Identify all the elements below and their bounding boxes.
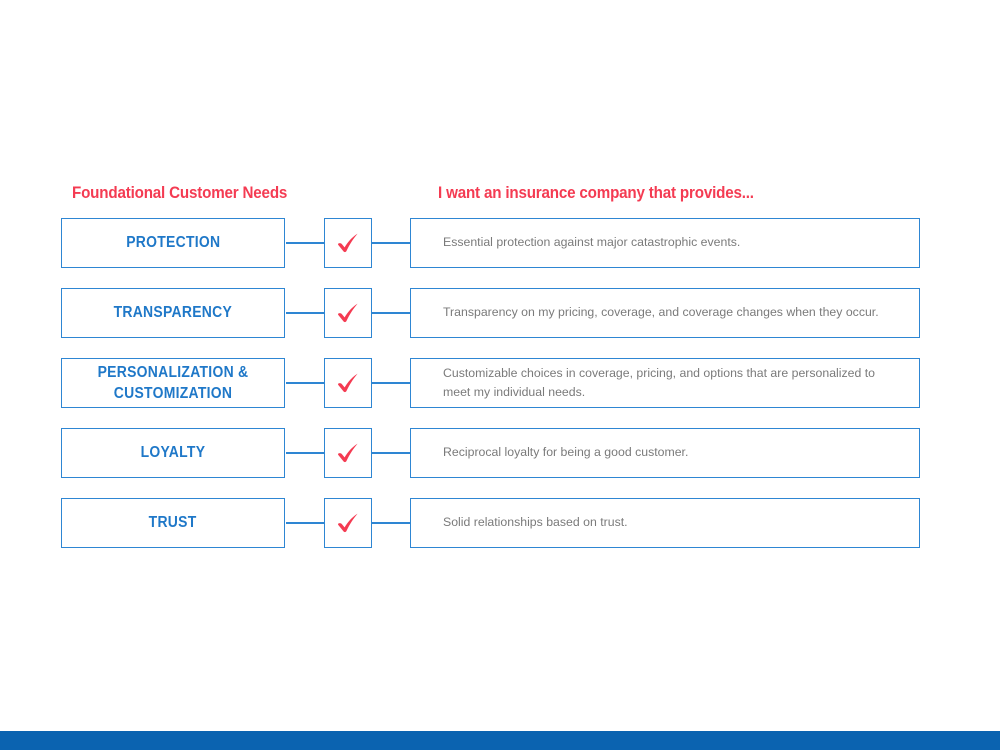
description-box[interactable]: Reciprocal loyalty for being a good cust… — [410, 428, 920, 478]
need-label: LOYALTY — [141, 442, 206, 463]
matrix-row: TRANSPARENCY Transparency on my pricing,… — [0, 288, 1000, 340]
need-box[interactable]: PERSONALIZATION & CUSTOMIZATION — [61, 358, 285, 408]
description-box[interactable]: Essential protection against major catas… — [410, 218, 920, 268]
bottom-accent-bar — [0, 731, 1000, 750]
check-box[interactable] — [324, 358, 372, 408]
need-box[interactable]: LOYALTY — [61, 428, 285, 478]
need-label: PROTECTION — [126, 232, 220, 253]
connector-line-right — [371, 312, 411, 314]
need-box[interactable]: TRANSPARENCY — [61, 288, 285, 338]
description-text: Essential protection against major catas… — [443, 233, 740, 252]
connector-line-left — [286, 242, 325, 244]
description-box[interactable]: Transparency on my pricing, coverage, an… — [410, 288, 920, 338]
checkmark-icon — [335, 231, 361, 255]
connector-line-left — [286, 312, 325, 314]
matrix-row: PERSONALIZATION & CUSTOMIZATION Customiz… — [0, 358, 1000, 410]
connector-line-right — [371, 452, 411, 454]
connector-line-left — [286, 522, 325, 524]
connector-line-right — [371, 242, 411, 244]
need-label: TRANSPARENCY — [114, 302, 232, 323]
checkmark-icon — [335, 441, 361, 465]
connector-line-left — [286, 382, 325, 384]
matrix-row: TRUST Solid relationships based on trust… — [0, 498, 1000, 550]
description-text: Transparency on my pricing, coverage, an… — [443, 303, 879, 322]
matrix-row: PROTECTION Essential protection against … — [0, 218, 1000, 270]
description-box[interactable]: Solid relationships based on trust. — [410, 498, 920, 548]
need-box[interactable]: PROTECTION — [61, 218, 285, 268]
description-text: Reciprocal loyalty for being a good cust… — [443, 443, 688, 462]
check-box[interactable] — [324, 498, 372, 548]
description-text: Solid relationships based on trust. — [443, 513, 628, 532]
connector-line-right — [371, 382, 411, 384]
left-column-header: Foundational Customer Needs — [72, 184, 287, 203]
checkmark-icon — [335, 511, 361, 535]
right-column-header: I want an insurance company that provide… — [438, 184, 754, 203]
connector-line-left — [286, 452, 325, 454]
need-label: PERSONALIZATION & CUSTOMIZATION — [73, 362, 273, 405]
slide-canvas: Foundational Customer Needs I want an in… — [0, 0, 1000, 750]
need-box[interactable]: TRUST — [61, 498, 285, 548]
check-box[interactable] — [324, 218, 372, 268]
description-box[interactable]: Customizable choices in coverage, pricin… — [410, 358, 920, 408]
need-label: TRUST — [149, 512, 197, 533]
check-box[interactable] — [324, 288, 372, 338]
checkmark-icon — [335, 371, 361, 395]
description-text: Customizable choices in coverage, pricin… — [443, 364, 901, 402]
check-box[interactable] — [324, 428, 372, 478]
connector-line-right — [371, 522, 411, 524]
checkmark-icon — [335, 301, 361, 325]
matrix-row: LOYALTY Reciprocal loyalty for being a g… — [0, 428, 1000, 480]
